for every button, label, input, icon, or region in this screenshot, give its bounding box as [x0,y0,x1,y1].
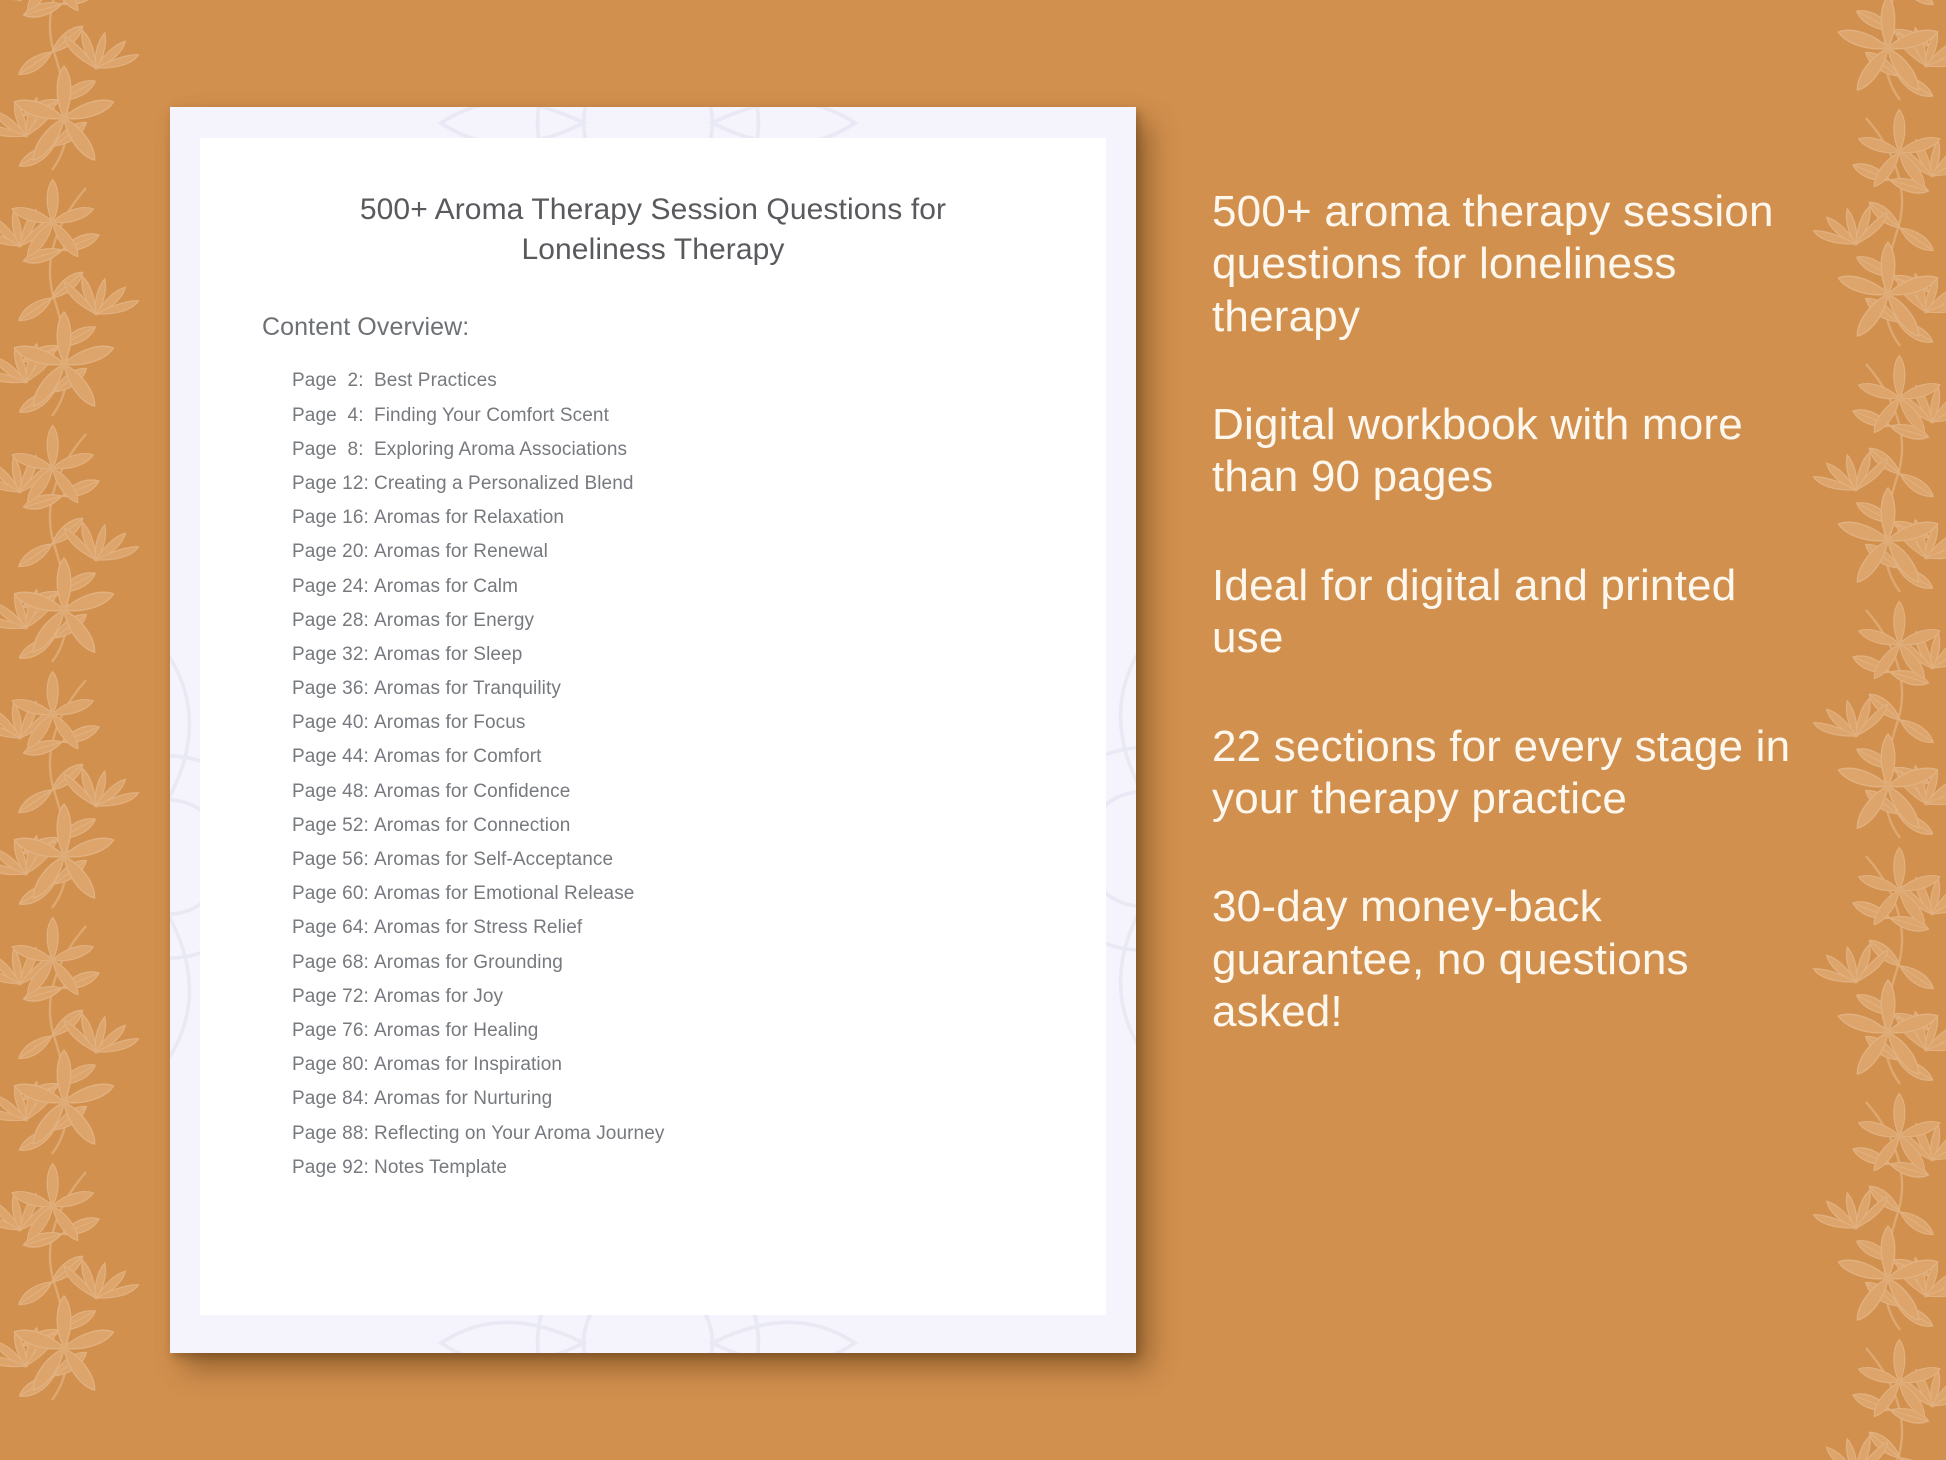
toc-page-label: Page 24: [292,577,374,596]
toc-row: Page 68:Aromas for Grounding [292,945,1106,979]
toc-section-title: Aromas for Sleep [374,645,522,664]
marketing-bullet: 500+ aroma therapy session questions for… [1212,186,1812,343]
toc-page-label: Page 80: [292,1055,374,1074]
toc-section-title: Aromas for Grounding [374,953,563,972]
toc-page-label: Page 4: [292,406,374,425]
toc-row: Page 72:Aromas for Joy [292,979,1106,1013]
toc-row: Page 36:Aromas for Tranquility [292,671,1106,705]
toc-page-label: Page 16: [292,508,374,527]
toc-page-label: Page 44: [292,747,374,766]
toc-page-label: Page 76: [292,1021,374,1040]
toc-page-label: Page 64: [292,918,374,937]
toc-section-title: Aromas for Energy [374,611,534,630]
toc-page-label: Page 72: [292,987,374,1006]
toc-row: Page 64:Aromas for Stress Relief [292,911,1106,945]
toc-section-title: Creating a Personalized Blend [374,474,634,493]
toc-row: Page 56:Aromas for Self-Acceptance [292,842,1106,876]
marketing-bullets: 500+ aroma therapy session questions for… [1212,186,1812,1038]
toc-page-label: Page 20: [292,542,374,561]
toc-page-label: Page 68: [292,953,374,972]
toc-page-label: Page 28: [292,611,374,630]
toc-section-title: Aromas for Nurturing [374,1089,552,1108]
toc-page-label: Page 56: [292,850,374,869]
toc-page-label: Page 8: [292,440,374,459]
toc-section-title: Exploring Aroma Associations [374,440,627,459]
toc-row: Page 92:Notes Template [292,1150,1106,1184]
toc-page-label: Page 32: [292,645,374,664]
toc-row: Page 8:Exploring Aroma Associations [292,432,1106,466]
toc-section-title: Aromas for Relaxation [374,508,564,527]
toc-page-label: Page 40: [292,713,374,732]
toc-section-title: Aromas for Inspiration [374,1055,562,1074]
toc-row: Page 84:Aromas for Nurturing [292,1082,1106,1116]
marketing-bullet: 22 sections for every stage in your ther… [1212,721,1812,826]
floral-vine-border-icon [0,0,192,1460]
toc-page-label: Page 88: [292,1124,374,1143]
toc-row: Page 24:Aromas for Calm [292,569,1106,603]
toc-row: Page 48:Aromas for Confidence [292,774,1106,808]
toc-page-label: Page 84: [292,1089,374,1108]
page-content: 500+ Aroma Therapy Session Questions for… [200,138,1106,1315]
toc-page-label: Page 60: [292,884,374,903]
toc-section-title: Aromas for Healing [374,1021,538,1040]
toc-row: Page 52:Aromas for Connection [292,808,1106,842]
toc-section-title: Aromas for Focus [374,713,526,732]
toc-page-label: Page 36: [292,679,374,698]
toc-section-title: Aromas for Renewal [374,542,548,561]
toc-page-label: Page 48: [292,782,374,801]
table-of-contents: Page 2:Best PracticesPage 4:Finding Your… [200,342,1106,1185]
toc-section-title: Notes Template [374,1158,507,1177]
toc-page-label: Page 92: [292,1158,374,1177]
toc-section-title: Aromas for Tranquility [374,679,561,698]
toc-section-title: Aromas for Emotional Release [374,884,634,903]
toc-row: Page 4:Finding Your Comfort Scent [292,398,1106,432]
toc-section-title: Aromas for Calm [374,577,518,596]
toc-section-title: Aromas for Self-Acceptance [374,850,613,869]
toc-page-label: Page 52: [292,816,374,835]
toc-row: Page 44:Aromas for Comfort [292,740,1106,774]
toc-row: Page 40:Aromas for Focus [292,706,1106,740]
toc-section-title: Aromas for Connection [374,816,570,835]
toc-section-title: Best Practices [374,371,497,390]
toc-row: Page 88:Reflecting on Your Aroma Journey [292,1116,1106,1150]
marketing-bullet: Digital workbook with more than 90 pages [1212,399,1812,504]
toc-row: Page 12:Creating a Personalized Blend [292,466,1106,500]
toc-section-title: Reflecting on Your Aroma Journey [374,1124,665,1143]
marketing-bullet: 30-day money-back guarantee, no question… [1212,881,1812,1038]
toc-page-label: Page 12: [292,474,374,493]
toc-page-label: Page 2: [292,371,374,390]
content-overview-label: Content Overview: [200,270,1106,342]
toc-section-title: Aromas for Stress Relief [374,918,582,937]
toc-section-title: Aromas for Joy [374,987,503,1006]
page-frame: 500+ Aroma Therapy Session Questions for… [170,107,1136,1353]
marketing-bullet: Ideal for digital and printed use [1212,560,1812,665]
toc-row: Page 76:Aromas for Healing [292,1013,1106,1047]
toc-section-title: Aromas for Confidence [374,782,570,801]
document-preview[interactable]: 500+ Aroma Therapy Session Questions for… [170,107,1136,1353]
page-title: 500+ Aroma Therapy Session Questions for… [200,138,1106,270]
promo-slide: 500+ Aroma Therapy Session Questions for… [0,0,1946,1460]
toc-row: Page 16:Aromas for Relaxation [292,501,1106,535]
toc-row: Page 2:Best Practices [292,364,1106,398]
toc-section-title: Aromas for Comfort [374,747,542,766]
toc-row: Page 80:Aromas for Inspiration [292,1048,1106,1082]
toc-row: Page 28:Aromas for Energy [292,603,1106,637]
toc-row: Page 32:Aromas for Sleep [292,637,1106,671]
toc-row: Page 60:Aromas for Emotional Release [292,877,1106,911]
toc-row: Page 20:Aromas for Renewal [292,535,1106,569]
toc-section-title: Finding Your Comfort Scent [374,406,609,425]
